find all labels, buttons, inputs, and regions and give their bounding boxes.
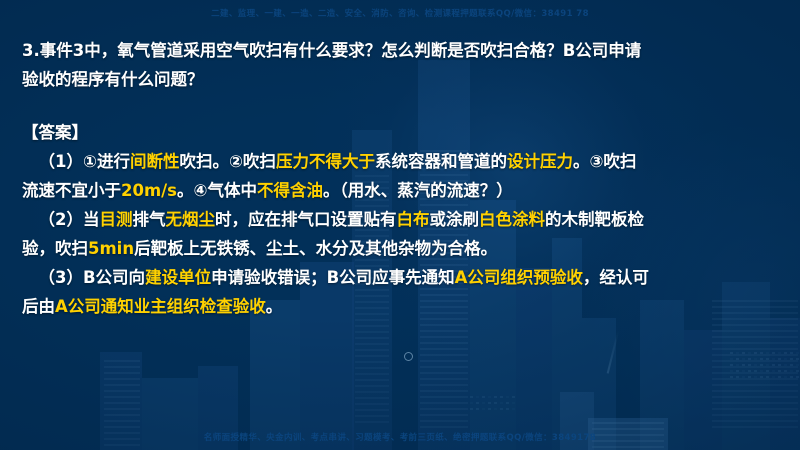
body-text: （1）①进行 — [39, 152, 130, 171]
highlighted-text: 20m/s — [121, 181, 177, 200]
body-text: 排气 — [132, 210, 165, 229]
body-text: 时，应在排气口设置贴有 — [215, 210, 397, 229]
highlighted-text: A公司组织预验收 — [455, 268, 583, 287]
highlighted-text: A公司通知业主组织检查验收 — [55, 297, 266, 316]
body-text: 后靶板上无铁锈、尘土、水分及其他杂物为合格。 — [134, 239, 497, 258]
answer-paragraph-p2: （2）当目测排气无烟尘时，应在排气口设置贴有白布或涂刷白色涂料的木制靶板检验，吹… — [22, 205, 652, 263]
body-text: 系统容器和管道的 — [375, 152, 507, 171]
highlighted-text: 无烟尘 — [165, 210, 215, 229]
answer-paragraph-p1: （1）①进行间断性吹扫。②吹扫压力不得大于系统容器和管道的设计压力。③吹扫流速不… — [22, 147, 652, 205]
answer-heading: 【答案】 — [22, 118, 652, 147]
slide-content: 3.事件3中，氧气管道采用空气吹扫有什么要求？怎么判断是否吹扫合格？B公司申请验… — [0, 0, 800, 450]
highlighted-text: 目测 — [99, 210, 132, 229]
question-text: 3.事件3中，氧气管道采用空气吹扫有什么要求？怎么判断是否吹扫合格？B公司申请验… — [22, 36, 642, 94]
highlighted-text: 不得含油 — [257, 181, 323, 200]
highlighted-text: 压力不得大于 — [276, 152, 375, 171]
highlighted-text: 设计压力 — [507, 152, 573, 171]
highlighted-text: 白布 — [396, 210, 429, 229]
answer-block: 【答案】 （1）①进行间断性吹扫。②吹扫压力不得大于系统容器和管道的设计压力。③… — [22, 118, 652, 321]
answer-paragraph-p3: （3）B公司向建设单位申请验收错误；B公司应事先通知A公司组织预验收，经认可后由… — [22, 263, 652, 321]
body-text: 或涂刷 — [429, 210, 479, 229]
highlighted-text: 白色涂料 — [479, 210, 545, 229]
body-text: 吹扫。②吹扫 — [179, 152, 275, 171]
slide-canvas: 二建、监理、一建、一造、二造、安全、消防、咨询、检测课程押题联系QQ/微信：38… — [0, 0, 800, 450]
highlighted-text: 间断性 — [130, 152, 180, 171]
body-text: 。④气体中 — [177, 181, 257, 200]
body-text: 。（用水、蒸汽的流速？） — [323, 181, 513, 200]
answer-paragraph-list: （1）①进行间断性吹扫。②吹扫压力不得大于系统容器和管道的设计压力。③吹扫流速不… — [22, 147, 652, 321]
body-text: 申请验收错误；B公司应事先通知 — [211, 268, 455, 287]
highlighted-text: 建设单位 — [145, 268, 211, 287]
highlighted-text: 5min — [88, 239, 134, 258]
body-text: （2）当 — [39, 210, 100, 229]
body-text: 。 — [266, 297, 283, 316]
body-text: （3）B公司向 — [39, 268, 146, 287]
